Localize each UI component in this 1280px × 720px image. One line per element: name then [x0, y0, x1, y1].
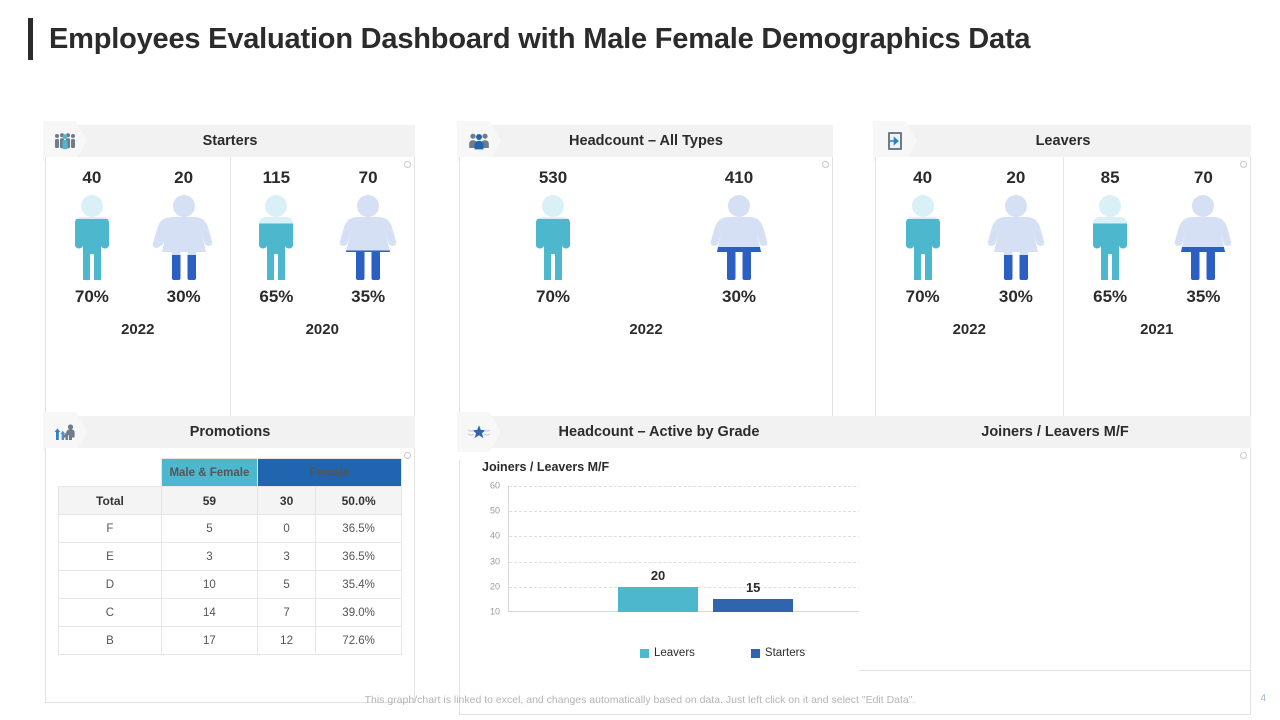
cell-grade: F — [59, 515, 162, 543]
card-headcount-body: 530 — [459, 157, 833, 418]
card-leavers: Leavers 40 — [875, 125, 1251, 418]
legend-item-starters[interactable]: Starters — [751, 647, 805, 659]
legend-swatch-leavers — [640, 649, 649, 658]
starters-2022-female: 20 — [138, 169, 230, 305]
legend-label-starters: Starters — [765, 647, 805, 659]
headcount-2022-male: 530 — [460, 169, 646, 305]
legend-swatch-starters — [751, 649, 760, 658]
value-percent: 30% — [722, 288, 756, 305]
cell-percent: 72.6% — [316, 627, 402, 655]
slide-canvas: Employees Evaluation Dashboard with Male… — [0, 0, 1280, 720]
card-starters-title: Starters — [203, 133, 258, 149]
cell-percent: 36.5% — [316, 515, 402, 543]
male-figure — [514, 192, 592, 282]
legend-item-leavers[interactable]: Leavers — [640, 647, 695, 659]
male-figure — [1071, 192, 1149, 282]
card-joiners-leavers-header: Joiners / Leavers M/F — [859, 416, 1251, 448]
card-starters: Starters 40 — [45, 125, 415, 418]
cell-female: 5 — [257, 571, 315, 599]
star-icon — [457, 412, 501, 452]
bar-value-label: 20 — [618, 568, 699, 583]
card-starters-body: 40 — [45, 157, 415, 418]
value-count: 70 — [1194, 169, 1213, 186]
table-row: C 14 7 39.0% — [59, 599, 402, 627]
leavers-2021-female: 70 — [1157, 169, 1250, 305]
cell-male-female: 14 — [161, 599, 257, 627]
y-tick: 60 — [490, 482, 500, 491]
card-grade-header: Headcount – Active by Grade — [459, 416, 859, 448]
female-figure — [329, 192, 407, 282]
leavers-2022-male: 40 — [876, 169, 969, 305]
cell-female: 0 — [257, 515, 315, 543]
cell-grade: E — [59, 543, 162, 571]
starters-panel-2020: 115 — [230, 157, 415, 417]
panel-year: 2022 — [876, 321, 1063, 338]
male-figure — [884, 192, 962, 282]
bar-starters-1[interactable]: 15 — [713, 599, 794, 612]
panel-year: 2022 — [460, 321, 832, 338]
leavers-2022-female: 20 — [969, 169, 1062, 305]
value-percent: 35% — [1186, 288, 1220, 305]
y-tick: 40 — [490, 532, 500, 541]
promotions-table: Male & Female Female Total 59 30 50.0% F… — [58, 458, 402, 655]
value-count: 530 — [539, 169, 567, 186]
cell-percent: 50.0% — [316, 487, 402, 515]
card-promotions: Promotions Male & Female Female Total 59 — [45, 416, 415, 703]
value-percent: 35% — [351, 288, 385, 305]
cell-percent: 36.5% — [316, 543, 402, 571]
value-count: 70 — [359, 169, 378, 186]
people-trio-icon — [457, 121, 501, 161]
header-male-female: Male & Female — [161, 459, 257, 487]
card-headcount-title: Headcount – All Types — [569, 133, 723, 149]
table-row: F 5 0 36.5% — [59, 515, 402, 543]
card-headcount-all-types: Headcount – All Types 530 — [459, 125, 833, 418]
bar-leavers-1[interactable]: 20 — [618, 587, 699, 612]
value-count: 20 — [174, 169, 193, 186]
starters-panel-2022: 40 — [46, 157, 230, 417]
male-figure — [237, 192, 315, 282]
leavers-panel-2021: 85 — [1063, 157, 1251, 417]
panel-year: 2022 — [46, 321, 230, 338]
card-starters-header: Starters — [45, 125, 415, 157]
y-tick: 20 — [490, 582, 500, 591]
starters-2022-male: 40 — [46, 169, 138, 305]
exit-door-icon — [873, 121, 917, 161]
table-row-total: Total 59 30 50.0% — [59, 487, 402, 515]
leavers-2021-male: 85 — [1064, 169, 1157, 305]
card-headcount-header: Headcount – All Types — [459, 125, 833, 157]
leavers-panel-2022: 40 — [876, 157, 1063, 417]
starters-2020-female: 70 — [322, 169, 414, 305]
panel-year: 2021 — [1064, 321, 1251, 338]
promotion-arrows-person-icon — [43, 412, 87, 452]
resize-handle-dot[interactable] — [1240, 452, 1247, 459]
header-female: Female — [257, 459, 401, 487]
cell-male-female: 5 — [161, 515, 257, 543]
card-headcount-active-by-grade: Headcount – Active by Grade Joiners / Le… — [459, 416, 859, 715]
cell-male-female: 59 — [161, 487, 257, 515]
card-leavers-body: 40 — [875, 157, 1251, 418]
cell-female: 3 — [257, 543, 315, 571]
page-title-text: Employees Evaluation Dashboard with Male… — [49, 23, 1030, 56]
panel-year: 2020 — [231, 321, 415, 338]
cell-grade: D — [59, 571, 162, 599]
card-joiners-leavers-body — [859, 448, 1251, 671]
group-people-icon — [43, 121, 87, 161]
value-count: 40 — [82, 169, 101, 186]
value-percent: 65% — [259, 288, 293, 305]
cell-female: 12 — [257, 627, 315, 655]
cell-male-female: 10 — [161, 571, 257, 599]
card-promotions-header: Promotions — [45, 416, 415, 448]
page-title: Employees Evaluation Dashboard with Male… — [28, 16, 1252, 62]
table-row: B 17 12 72.6% — [59, 627, 402, 655]
y-tick: 10 — [490, 608, 500, 617]
header-blank — [59, 459, 162, 487]
page-number: 4 — [1260, 693, 1266, 704]
female-figure — [700, 192, 778, 282]
cell-female: 7 — [257, 599, 315, 627]
headcount-panel-2022: 530 — [460, 157, 832, 417]
bar-slot[interactable]: 15 — [713, 486, 794, 612]
cell-male-female: 3 — [161, 543, 257, 571]
card-grade-title: Headcount – Active by Grade — [559, 424, 760, 440]
y-axis-labels: 60 50 40 30 20 10 — [482, 486, 504, 612]
value-count: 410 — [725, 169, 753, 186]
cell-percent: 39.0% — [316, 599, 402, 627]
value-count: 20 — [1006, 169, 1025, 186]
y-tick: 50 — [490, 507, 500, 516]
female-figure — [145, 192, 223, 282]
card-promotions-title: Promotions — [190, 424, 271, 440]
female-figure — [1164, 192, 1242, 282]
card-joiners-leavers-title: Joiners / Leavers M/F — [981, 424, 1128, 440]
footer-note: This graph/chart is linked to excel, and… — [0, 694, 1280, 706]
value-percent: 70% — [906, 288, 940, 305]
table-header-row: Male & Female Female — [59, 459, 402, 487]
table-row: D 10 5 35.4% — [59, 571, 402, 599]
title-accent-bar — [28, 18, 33, 60]
value-percent: 30% — [167, 288, 201, 305]
resize-handle-dot[interactable] — [404, 452, 411, 459]
female-figure — [977, 192, 1055, 282]
value-count: 40 — [913, 169, 932, 186]
bar-slot[interactable]: 20 — [618, 486, 699, 612]
value-count: 85 — [1101, 169, 1120, 186]
table-row: E 3 3 36.5% — [59, 543, 402, 571]
card-promotions-body: Male & Female Female Total 59 30 50.0% F… — [45, 448, 415, 703]
cell-grade: B — [59, 627, 162, 655]
cell-grade: Total — [59, 487, 162, 515]
value-count: 115 — [263, 169, 290, 186]
value-percent: 70% — [75, 288, 109, 305]
value-percent: 70% — [536, 288, 570, 305]
y-tick: 30 — [490, 557, 500, 566]
cell-grade: C — [59, 599, 162, 627]
headcount-2022-female: 410 — [646, 169, 832, 305]
cell-percent: 35.4% — [316, 571, 402, 599]
bar-value-label: 15 — [713, 580, 794, 595]
cell-male-female: 17 — [161, 627, 257, 655]
cell-female: 30 — [257, 487, 315, 515]
starters-2020-male: 115 — [231, 169, 323, 305]
card-leavers-header: Leavers — [875, 125, 1251, 157]
male-figure — [53, 192, 131, 282]
legend-label-leavers: Leavers — [654, 647, 695, 659]
value-percent: 30% — [999, 288, 1033, 305]
card-leavers-title: Leavers — [1036, 133, 1091, 149]
value-percent: 65% — [1093, 288, 1127, 305]
